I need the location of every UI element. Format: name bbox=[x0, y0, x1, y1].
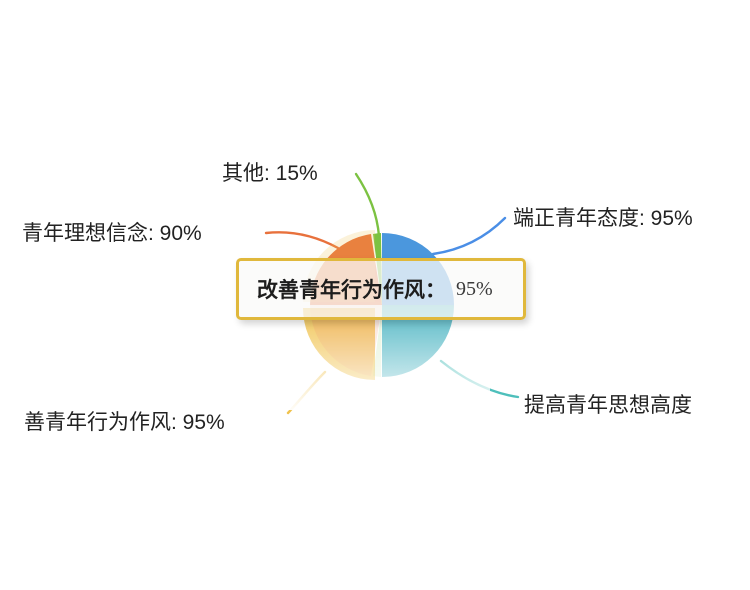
tooltip-series-name: 改善青年行为作风 bbox=[257, 274, 425, 304]
leader-line-attitude bbox=[433, 218, 505, 254]
pie-label-thought: 提高青年思想高度 bbox=[524, 394, 692, 418]
tooltip-value: 95% bbox=[456, 278, 493, 301]
chart-tooltip: 改善青年行为作风 ： 95% bbox=[236, 258, 526, 320]
tooltip-separator: ： bbox=[425, 274, 448, 304]
pie-label-attitude: 端正青年态度: 95% bbox=[513, 207, 693, 231]
pie-chart-container: 其他: 15% 青年理想信念: 90% 善青年行为作风: 95% 端正青年态度:… bbox=[0, 0, 750, 590]
leader-line-ideal bbox=[266, 232, 338, 248]
leader-line-other bbox=[356, 174, 379, 236]
pie-label-conduct: 善青年行为作风: 95% bbox=[24, 411, 225, 435]
pie-label-other: 其他: 15% bbox=[222, 162, 318, 186]
pie-label-ideal: 青年理想信念: 90% bbox=[22, 222, 202, 246]
